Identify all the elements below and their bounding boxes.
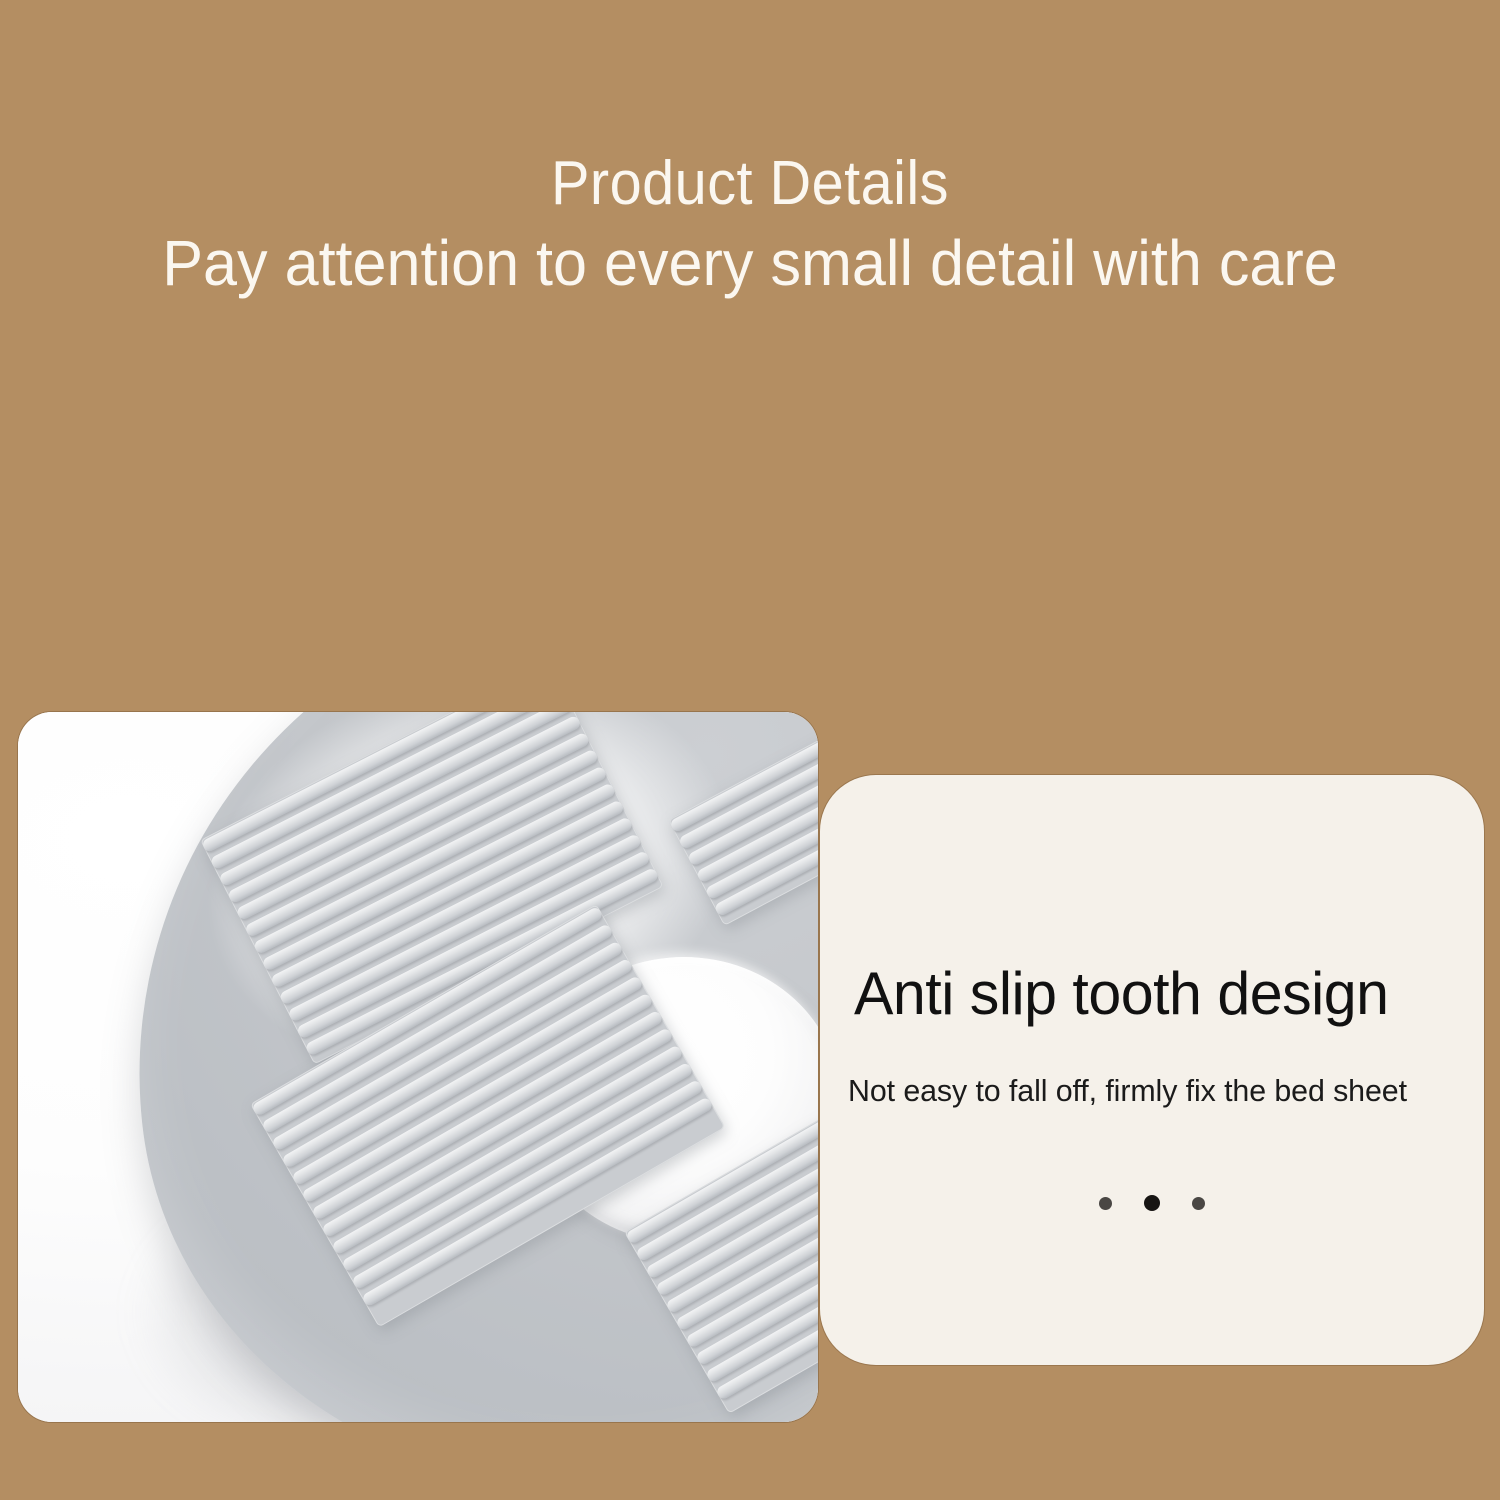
carousel-dot-1[interactable] xyxy=(1099,1197,1112,1210)
feature-subtitle: Not easy to fall off, firmly fix the bed… xyxy=(848,1073,1446,1109)
page-header: Product Details Pay attention to every s… xyxy=(0,0,1500,302)
product-photo-card xyxy=(18,712,818,1422)
page-title: Product Details xyxy=(53,148,1448,220)
carousel-dot-3[interactable] xyxy=(1192,1197,1205,1210)
product-photo xyxy=(18,712,818,1422)
carousel-dot-2-active[interactable] xyxy=(1144,1195,1160,1211)
page-subtitle: Pay attention to every small detail with… xyxy=(34,224,1467,302)
feature-text-card: Anti slip tooth design Not easy to fall … xyxy=(820,775,1484,1365)
carousel-dots[interactable] xyxy=(820,1195,1484,1211)
feature-heading: Anti slip tooth design xyxy=(854,963,1445,1025)
